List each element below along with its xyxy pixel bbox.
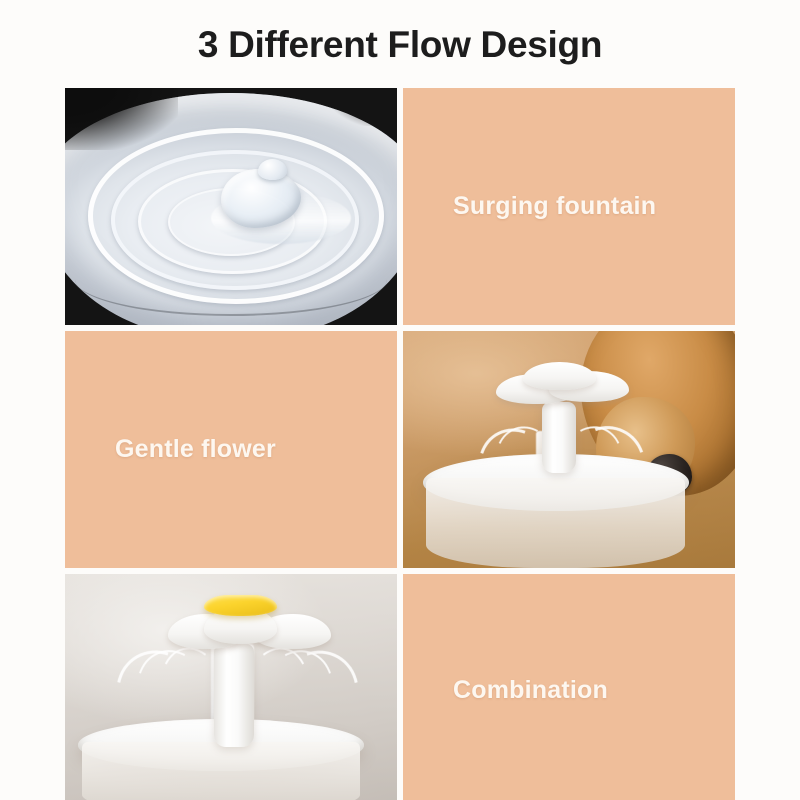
dark-corner-top-right (331, 88, 397, 126)
fountain-combination (65, 574, 397, 800)
fountain-gentle-flower (403, 331, 735, 568)
water-droplet (258, 159, 288, 180)
panel-1-image-water-ripple (65, 88, 397, 325)
dark-corner-top-left (65, 88, 178, 150)
page-title: 3 Different Flow Design (198, 26, 602, 63)
flow-design-grid: Surging fountain Gentle flower (65, 88, 735, 800)
fountain-reservoir (82, 742, 361, 800)
fountain-stem (214, 644, 254, 747)
fountain-reservoir (426, 478, 685, 568)
panel-1-label: Surging fountain (403, 193, 672, 221)
yellow-top-cap (204, 595, 277, 616)
fountain-petal-top (523, 362, 596, 390)
panel-3-image-combination-fountain (65, 574, 397, 800)
title-bar: 3 Different Flow Design (0, 26, 800, 63)
product-infographic: 3 Different Flow Design Surging fountain… (0, 0, 800, 800)
fountain-stem (542, 402, 575, 473)
panel-3-label: Combination (403, 677, 624, 705)
panel-2-label: Gentle flower (65, 436, 292, 464)
bowl-rim (75, 242, 387, 315)
panel-2-caption: Gentle flower (65, 331, 397, 568)
panel-3-caption: Combination (403, 574, 735, 800)
panel-1-caption: Surging fountain (403, 88, 735, 325)
panel-2-image-dog-drinking (403, 331, 735, 568)
